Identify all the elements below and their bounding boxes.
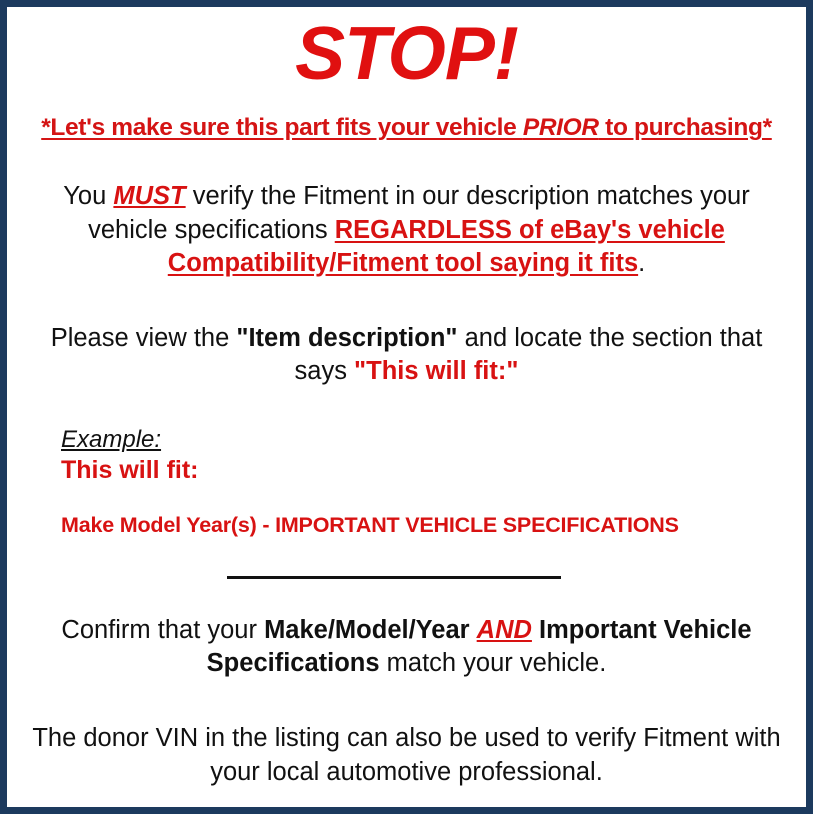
confirm-space-2 [532, 616, 539, 644]
example-label-row: Example: [61, 426, 799, 454]
must-paragraph-part1: You [63, 182, 113, 210]
page-title: STOP! [14, 7, 799, 92]
example-label: Example: [61, 426, 161, 454]
example-fit-line: This will fit: [61, 456, 799, 485]
must-paragraph-part3: . [638, 249, 645, 277]
must-emphasis: MUST [113, 182, 185, 210]
subheading-emphasis: PRIOR [523, 114, 599, 141]
please-paragraph-part1: Please view the [51, 324, 237, 352]
notice-content: STOP! *Let's make sure this part fits yo… [7, 7, 806, 807]
subheading-text-after: to purchasing* [599, 114, 772, 141]
must-verify-paragraph: You MUST verify the Fitment in our descr… [14, 180, 799, 279]
and-emphasis: AND [477, 616, 532, 644]
horizontal-divider [227, 576, 561, 579]
confirm-paragraph-part1: Confirm that your [61, 616, 264, 644]
example-block: Example: This will fit: Make Model Year(… [14, 426, 799, 538]
item-description-emphasis: "Item description" [236, 324, 457, 352]
this-will-fit-emphasis: "This will fit:" [354, 357, 518, 385]
confirm-paragraph: Confirm that your Make/Model/Year AND Im… [14, 614, 799, 680]
fitment-notice-card: STOP! *Let's make sure this part fits yo… [0, 0, 813, 814]
subheading: *Let's make sure this part fits your veh… [14, 114, 799, 142]
please-view-paragraph: Please view the "Item description" and l… [14, 322, 799, 388]
donor-vin-paragraph: The donor VIN in the listing can also be… [14, 722, 799, 788]
divider-container [14, 566, 799, 580]
make-model-year-emphasis: Make/Model/Year [264, 616, 470, 644]
subheading-text-before: *Let's make sure this part fits your veh… [41, 114, 523, 141]
confirm-paragraph-part2: match your vehicle. [380, 649, 607, 677]
confirm-space-1 [470, 616, 477, 644]
example-spec-line: Make Model Year(s) - IMPORTANT VEHICLE S… [61, 513, 799, 538]
